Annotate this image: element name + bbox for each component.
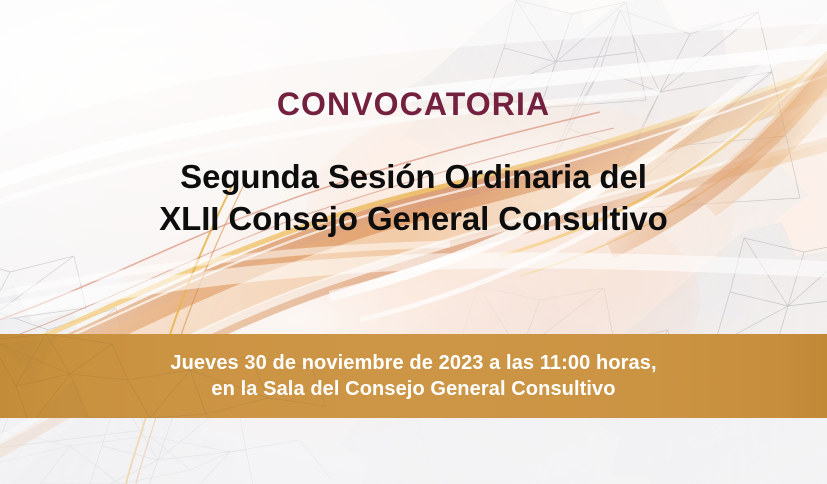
headline-block: CONVOCATORIA Segunda Sesión Ordinaria de… (0, 88, 827, 240)
banner-mesh-overlay (0, 334, 330, 418)
kicker-convocatoria: CONVOCATORIA (0, 88, 827, 120)
date-venue-banner: Jueves 30 de noviembre de 2023 a las 11:… (0, 334, 827, 418)
session-title-line-1: Segunda Sesión Ordinaria del (0, 156, 827, 198)
session-title: Segunda Sesión Ordinaria del XLII Consej… (0, 156, 827, 240)
session-title-line-2: XLII Consejo General Consultivo (0, 198, 827, 240)
convocatoria-poster: CONVOCATORIA Segunda Sesión Ordinaria de… (0, 0, 827, 484)
